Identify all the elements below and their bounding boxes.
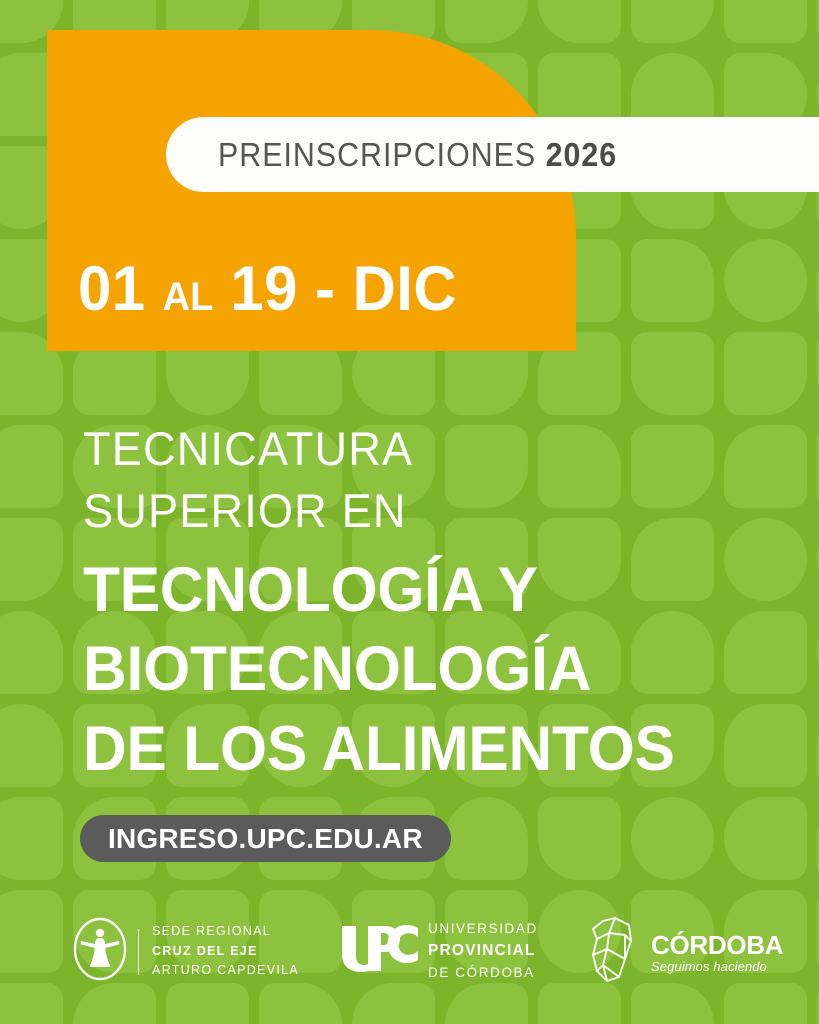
logo-upc-text: UNIVERSIDAD PROVINCIAL DE CÓRDOBA xyxy=(428,919,538,983)
logo-cordoba: CÓRDOBA Seguimos haciendo xyxy=(585,915,783,990)
date-day-start: 01 xyxy=(78,254,146,324)
website-url-pill[interactable]: INGRESO.UPC.EDU.AR xyxy=(80,815,451,862)
upc-line-1: UNIVERSIDAD xyxy=(428,919,538,939)
poster-root: PREINSCRIPCIONES 2026 01 AL 19 - DIC TEC… xyxy=(0,0,819,1024)
footer-logos: SEDE REGIONAL CRUZ DEL EJE ARTURO CAPDEV… xyxy=(0,905,819,1000)
logo-sede-regional: SEDE REGIONAL CRUZ DEL EJE ARTURO CAPDEV… xyxy=(72,915,299,988)
date-range: 01 AL 19 - DIC xyxy=(78,258,457,321)
date-separator: - xyxy=(315,254,335,324)
cordoba-title: CÓRDOBA xyxy=(651,932,783,958)
date-month: DIC xyxy=(353,254,458,324)
sede-line-3: ARTURO CAPDEVILA xyxy=(152,961,299,980)
cordoba-tagline: Seguimos haciendo xyxy=(651,960,783,973)
logo-sede-text: SEDE REGIONAL CRUZ DEL EJE ARTURO CAPDEV… xyxy=(152,922,299,980)
figure-in-circle-icon xyxy=(72,915,128,988)
program-title: TECNOLOGÍA Y BIOTECNOLOGÍA DE LOS ALIMEN… xyxy=(83,551,675,789)
logo-cordoba-text: CÓRDOBA Seguimos haciendo xyxy=(651,932,783,973)
cordoba-province-icon xyxy=(585,915,641,990)
upc-monogram-icon xyxy=(340,922,420,979)
sede-line-1: SEDE REGIONAL xyxy=(152,922,299,941)
program-kicker: TECNICATURA SUPERIOR EN xyxy=(83,418,413,542)
date-connector: AL xyxy=(163,275,214,319)
upc-line-3: DE CÓRDOBA xyxy=(428,963,538,983)
date-day-end: 19 xyxy=(230,254,298,324)
sede-line-2: CRUZ DEL EJE xyxy=(152,942,299,961)
preinscripciones-banner: PREINSCRIPCIONES 2026 xyxy=(166,117,819,192)
website-url-text: INGRESO.UPC.EDU.AR xyxy=(108,823,423,855)
banner-text: PREINSCRIPCIONES 2026 xyxy=(218,136,617,174)
banner-year: 2026 xyxy=(546,136,618,173)
logo-upc: UNIVERSIDAD PROVINCIAL DE CÓRDOBA xyxy=(340,919,538,983)
upc-line-2: PROVINCIAL xyxy=(428,939,538,962)
logo-divider xyxy=(138,929,139,975)
banner-label: PREINSCRIPCIONES xyxy=(218,136,536,173)
